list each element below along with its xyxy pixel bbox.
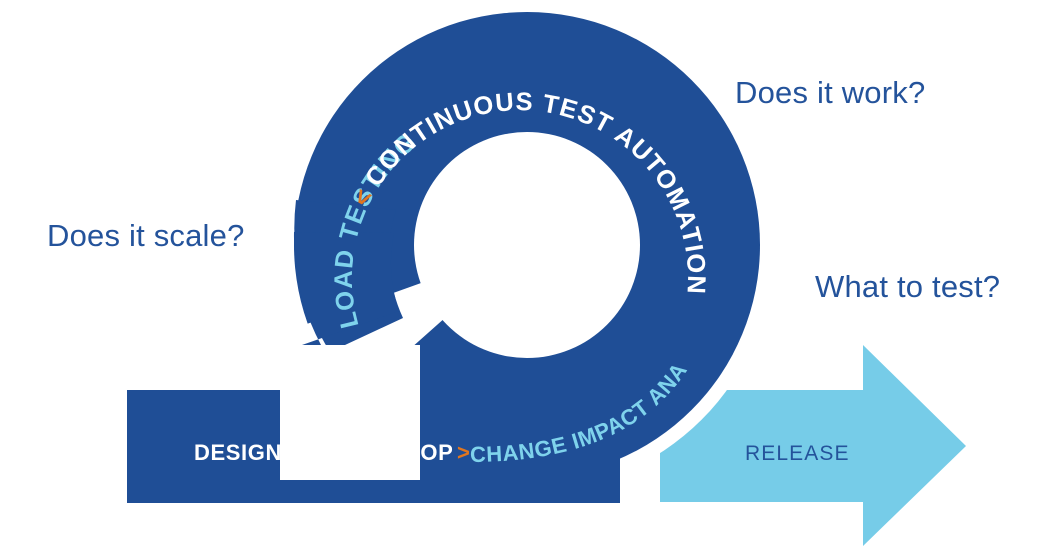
diagram-canvas: LOAD TESTING < CONTINUOUS TEST AUTOMATIO… (0, 0, 1040, 560)
question-does-it-scale: Does it scale? (47, 218, 245, 253)
design-and-develop-label: DESIGN AND DEVELOP (194, 440, 453, 465)
question-does-it-work: Does it work? (735, 75, 925, 110)
bar-separator: > (457, 440, 470, 465)
release-label: RELEASE (745, 442, 850, 465)
question-what-to-test: What to test? (815, 269, 1000, 304)
design-develop-bar-text: DESIGN AND DEVELOP > (194, 440, 470, 465)
process-flow-diagram: LOAD TESTING < CONTINUOUS TEST AUTOMATIO… (0, 0, 1040, 560)
